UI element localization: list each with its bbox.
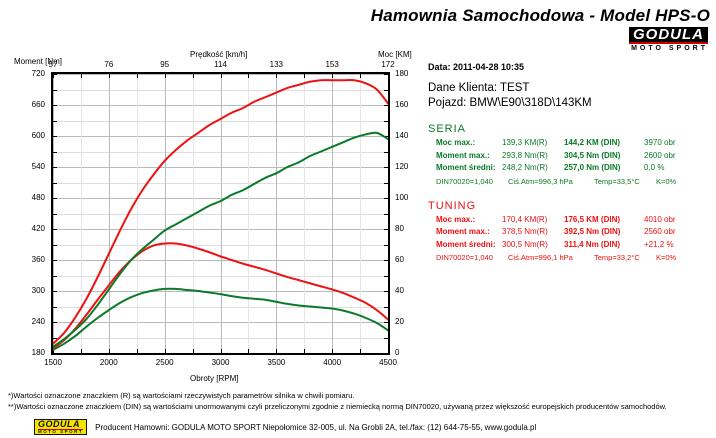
tick-label: 0 [395,348,421,357]
tick-label: 420 [19,224,45,233]
run-metric-row: Moc max.:139,3 KM(R)144,2 KM (DIN)3970 o… [428,137,712,150]
tick-label: 100 [395,193,421,202]
run-metric-row: Moment średni:248,2 Nm(R)257,0 Nm (DIN)0… [428,162,712,175]
footer-text: Producent Hamowni: GODULA MOTO SPORT Nie… [95,423,536,432]
run-metric-row: Moment max.:293,8 Nm(R)304,5 Nm (DIN)260… [428,150,712,163]
tick-label: 600 [19,131,45,140]
footnote: **)Wartości oznaczone znaczkiem (DIN) są… [0,401,716,412]
chart-curves [53,74,388,353]
run-condition-c4: K=0% [656,177,676,186]
tick-label: 2500 [145,358,185,367]
run-metric-row: Moc max.:170,4 KM(R)176,5 KM (DIN)4010 o… [428,214,712,227]
run-conditions: DIN70020=1,040Ciś.Atm=996,3 hPaTemp=33,5… [428,177,712,186]
tick-label: 4500 [368,358,408,367]
run-condition-c3: Temp=33,5°C [594,177,656,186]
run-metric-r: 170,4 KM(R) [502,214,564,227]
tick-label: 540 [19,162,45,171]
run-condition-c1: DIN70020=1,040 [436,177,508,186]
run-metric-row: Moment max.:378,5 Nm(R)392,5 Nm (DIN)256… [428,226,712,239]
brand-logo-main: GODULA [629,27,708,44]
client-name: Dane Klienta: TEST [428,82,712,94]
run-metric-r: 293,8 Nm(R) [502,150,564,163]
tick-label: 60 [395,255,421,264]
tick-label: 133 [256,60,296,69]
footer-logo-sub: MOTO SPORT [38,430,83,435]
brand-logo-sub: MOTO SPORT [568,45,708,52]
tick-label: 360 [19,255,45,264]
run-metric-rpm: 2560 obr [644,226,700,239]
run-metric-r: 378,5 Nm(R) [502,226,564,239]
tick-label: 180 [19,348,45,357]
measurement-date: Data: 2011-04-28 10:35 [428,62,712,72]
run-metric-lbl: Moc max.: [428,214,502,227]
tick-label: 76 [89,60,129,69]
tick-label: 57 [33,60,73,69]
run-metric-rpm: 3970 obr [644,137,700,150]
run-metric-r: 300,5 Nm(R) [502,239,564,252]
run-condition-c3: Temp=33,2°C [594,253,656,262]
run-metric-rpm: 2600 obr [644,150,700,163]
tick-label: 160 [395,100,421,109]
run-condition-c2: Ciś.Atm=996,3 hPa [508,177,594,186]
tick-label: 95 [145,60,185,69]
run-condition-c1: DIN70020=1,040 [436,253,508,262]
run-conditions: DIN70020=1,040Ciś.Atm=996,1 hPaTemp=33,2… [428,253,712,262]
run-metric-rpm: +21,2 % [644,239,700,252]
run-metric-r: 248,2 Nm(R) [502,162,564,175]
tick-label: 4000 [312,358,352,367]
brand-logo: GODULA MOTO SPORT [568,26,708,52]
axis-title-right: Moc [KM] [378,50,412,59]
run-metric-row: Moment średni:300,5 Nm(R)311,4 Nm (DIN)+… [428,239,712,252]
tick-label: 3500 [256,358,296,367]
tick-label: 20 [395,317,421,326]
tick-label: 3000 [201,358,241,367]
run-title: TUNING [428,200,712,212]
measurement-info-panel: Data: 2011-04-28 10:35 Dane Klienta: TES… [428,62,712,262]
axis-title-bottom: Obroty [RPM] [190,374,238,383]
run-metric-lbl: Moment max.: [428,226,502,239]
footer-bar: GODULA MOTO SPORT Producent Hamowni: GOD… [0,418,716,436]
run-metric-rpm: 4010 obr [644,214,700,227]
run-metric-lbl: Moc max.: [428,137,502,150]
tick-label: 300 [19,286,45,295]
run-metric-din: 176,5 KM (DIN) [564,214,644,227]
run-metric-r: 139,3 KM(R) [502,137,564,150]
tick-label: 180 [395,69,421,78]
tick-label: 1500 [33,358,73,367]
tick-label: 120 [395,162,421,171]
footer-logo: GODULA MOTO SPORT [34,419,87,436]
run-metric-lbl: Moment średni: [428,162,502,175]
tick-label: 240 [19,317,45,326]
tick-label: 660 [19,100,45,109]
run-metric-din: 257,0 Nm (DIN) [564,162,644,175]
run-title: SERIA [428,123,712,135]
tick-label: 153 [312,60,352,69]
run-block-seria: SERIAMoc max.:139,3 KM(R)144,2 KM (DIN)3… [428,123,712,186]
run-metric-din: 392,5 Nm (DIN) [564,226,644,239]
footnotes: *)Wartości oznaczone znaczkiem (R) są wa… [0,390,716,412]
run-metric-din: 311,4 Nm (DIN) [564,239,644,252]
page-title: Hamownia Samochodowa - Model HPS-O [300,6,710,26]
tick-label: 480 [19,193,45,202]
footnote: *)Wartości oznaczone znaczkiem (R) są wa… [0,390,716,401]
tick-label: 140 [395,131,421,140]
run-condition-c4: K=0% [656,253,676,262]
tick-label: 40 [395,286,421,295]
tick-label: 114 [201,60,241,69]
run-metric-din: 304,5 Nm (DIN) [564,150,644,163]
tick-label: 720 [19,69,45,78]
vehicle-name: Pojazd: BMW\E90\318D\143KM [428,97,712,109]
tick-label: 172 [368,60,408,69]
run-metric-lbl: Moment max.: [428,150,502,163]
run-condition-c2: Ciś.Atm=996,1 hPa [508,253,594,262]
runs-container: SERIAMoc max.:139,3 KM(R)144,2 KM (DIN)3… [428,123,712,262]
tick-label: 2000 [89,358,129,367]
curve-power [53,80,388,344]
axis-title-top: Prędkość [km/h] [190,50,247,59]
run-metric-lbl: Moment średni: [428,239,502,252]
run-block-tuning: TUNINGMoc max.:170,4 KM(R)176,5 KM (DIN)… [428,200,712,263]
run-metric-din: 144,2 KM (DIN) [564,137,644,150]
dyno-chart-plot [51,72,390,355]
run-metric-rpm: 0,0 % [644,162,700,175]
tick-label: 80 [395,224,421,233]
